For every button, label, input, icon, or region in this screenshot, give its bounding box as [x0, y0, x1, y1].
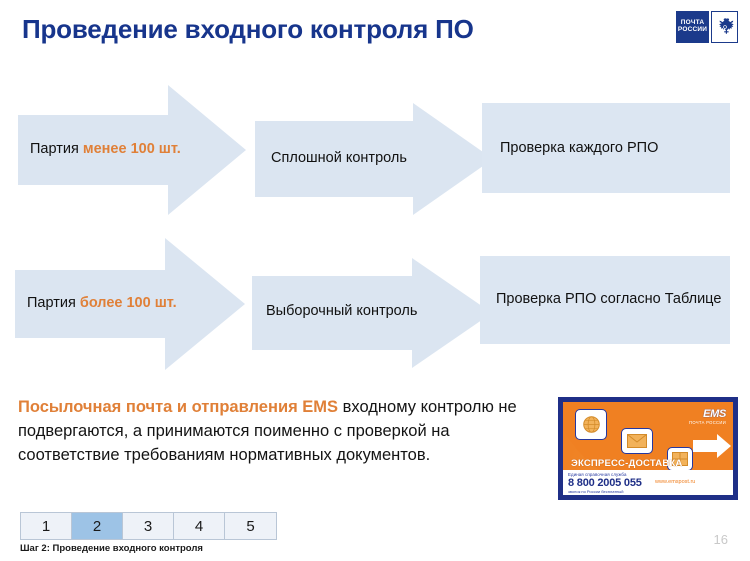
flow-step-batch-under-100[interactable]: Партия менее 100 шт.	[18, 85, 246, 215]
ems-promo-banner[interactable]: EMS ПОЧТА РОССИИ ЭКСПРЕСС-ДОСТАВКА от ад…	[558, 397, 738, 500]
step-pager-item-4[interactable]: 4	[174, 513, 225, 539]
envelope-icon	[621, 428, 653, 454]
title-divider	[20, 58, 710, 60]
page-title: Проведение входного контроля ПО	[22, 14, 474, 45]
flow-step-full-inspection[interactable]: Сплошной контроль	[255, 103, 493, 215]
flow-result-check-rpo-per-table[interactable]: Проверка РПО согласно Таблице	[480, 256, 730, 344]
flow-step-label: Партия более 100 шт.	[27, 294, 177, 313]
ems-banner-headline: ЭКСПРЕСС-ДОСТАВКА	[571, 458, 682, 469]
russian-post-logo: ПОЧТА РОССИИ	[676, 11, 738, 43]
flow-step-sample-inspection[interactable]: Выборочный контроль	[252, 258, 492, 368]
ems-free-call-note: звонок по России бесплатный	[568, 489, 624, 494]
step-pager-item-2[interactable]: 2	[72, 513, 123, 539]
exemption-note: Посылочная почта и отправления EMS входн…	[18, 396, 543, 468]
ems-brand-mark: EMS	[703, 408, 726, 420]
logo-wordmark: ПОЧТА РОССИИ	[676, 11, 709, 43]
flow-step-label: Сплошной контроль	[271, 149, 407, 168]
flow-row-large-batch: Партия более 100 шт. Выборочный контроль…	[0, 238, 750, 370]
ems-banner-contact-strip: Единая справочная служба 8 800 2005 055 …	[563, 470, 733, 495]
step-pager-item-3[interactable]: 3	[123, 513, 174, 539]
arrow-right-icon	[717, 434, 731, 458]
ems-phone-number: 8 800 2005 055	[568, 477, 642, 489]
step-pager[interactable]: 1 2 3 4 5	[20, 512, 277, 540]
flow-result-label: Проверка каждого РПО	[500, 139, 658, 158]
step-caption: Шаг 2: Проведение входного контроля	[20, 543, 203, 554]
ems-website-link[interactable]: www.emspost.ru	[655, 479, 695, 485]
flow-result-check-every-rpo[interactable]: Проверка каждого РПО	[482, 103, 730, 193]
flow-step-label-accent: менее 100 шт.	[83, 141, 181, 157]
step-pager-item-1[interactable]: 1	[21, 513, 72, 539]
flow-result-label: Проверка РПО согласно Таблице	[496, 290, 721, 310]
ems-banner-canvas: EMS ПОЧТА РОССИИ ЭКСПРЕСС-ДОСТАВКА от ад…	[563, 402, 733, 495]
step-pager-item-5[interactable]: 5	[225, 513, 276, 539]
flow-step-label-plain: Партия	[27, 295, 80, 311]
flow-step-label: Партия менее 100 шт.	[30, 140, 181, 159]
logo-wordmark-line2: РОССИИ	[678, 27, 707, 34]
ems-brand-sub: ПОЧТА РОССИИ	[689, 420, 726, 425]
slide-number: 16	[714, 532, 728, 547]
exemption-note-accent: Посылочная почта и отправления EMS	[18, 398, 338, 416]
arrow-tail-shape	[693, 440, 719, 452]
slide-header: Проведение входного контроля ПО ПОЧТА РО…	[0, 0, 750, 66]
flow-step-label-accent: более 100 шт.	[80, 295, 177, 311]
flow-step-batch-over-100[interactable]: Партия более 100 шт.	[15, 238, 245, 370]
flow-row-small-batch: Партия менее 100 шт. Сплошной контроль П…	[0, 85, 750, 215]
globe-icon	[575, 409, 607, 440]
flow-step-label: Выборочный контроль	[266, 302, 417, 321]
double-headed-eagle-icon	[711, 11, 738, 43]
flow-step-label-plain: Партия	[30, 141, 83, 157]
